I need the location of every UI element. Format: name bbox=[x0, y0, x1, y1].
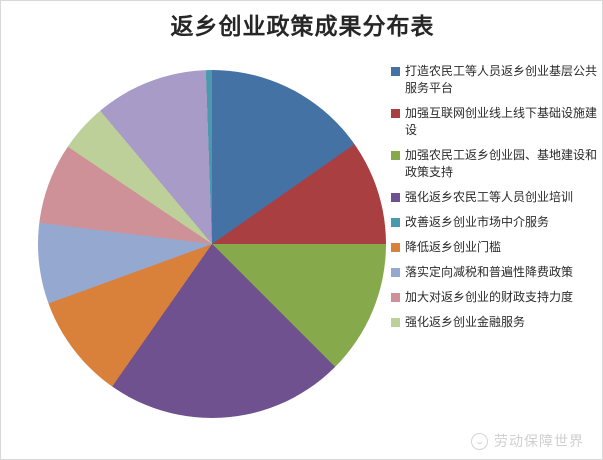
legend-color-swatch bbox=[391, 243, 400, 252]
legend-color-swatch bbox=[391, 193, 400, 202]
legend-item-label: 降低返乡创业门槛 bbox=[405, 239, 501, 256]
legend-item[interactable]: 改善返乡创业市场中介服务 bbox=[391, 214, 598, 231]
legend-item[interactable]: 强化返乡创业金融服务 bbox=[391, 314, 598, 331]
legend-color-swatch bbox=[391, 318, 400, 327]
legend-item-label: 加强农民工返乡创业园、基地建设和政策支持 bbox=[405, 147, 598, 181]
smiley-circle-icon bbox=[471, 433, 488, 450]
page-title: 返乡创业政策成果分布表 bbox=[1, 9, 603, 43]
legend-item-label: 强化返乡农民工等人员创业培训 bbox=[405, 189, 573, 206]
legend-item[interactable]: 加强互联网创业线上线下基础设施建设 bbox=[391, 105, 598, 139]
legend-color-swatch bbox=[391, 218, 400, 227]
legend-color-swatch bbox=[391, 293, 400, 302]
legend-color-swatch bbox=[391, 109, 400, 118]
legend-item-label: 落实定向减税和普遍性降费政策 bbox=[405, 264, 573, 281]
legend-item[interactable]: 打造农民工等人员返乡创业基层公共服务平台 bbox=[391, 63, 598, 97]
pie-chart-plot-area bbox=[23, 58, 393, 428]
legend-item[interactable]: 降低返乡创业门槛 bbox=[391, 239, 598, 256]
legend-item[interactable]: 强化返乡农民工等人员创业培训 bbox=[391, 189, 598, 206]
legend-item[interactable]: 加大对返乡创业的财政支持力度 bbox=[391, 289, 598, 306]
pie-chart-graphic bbox=[38, 70, 386, 418]
legend-item[interactable]: 加强农民工返乡创业园、基地建设和政策支持 bbox=[391, 147, 598, 181]
legend-item[interactable]: 落实定向减税和普遍性降费政策 bbox=[391, 264, 598, 281]
legend-color-swatch bbox=[391, 268, 400, 277]
legend-item-label: 加大对返乡创业的财政支持力度 bbox=[405, 289, 573, 306]
pie-chart-card: 返乡创业政策成果分布表 打造农民工等人员返乡创业基层公共服务平台加强互联网创业线… bbox=[0, 0, 603, 460]
watermark: 劳动保障世界 bbox=[471, 431, 584, 451]
legend-item-label: 改善返乡创业市场中介服务 bbox=[405, 214, 549, 231]
legend-item-label: 加强互联网创业线上线下基础设施建设 bbox=[405, 105, 598, 139]
legend-color-swatch bbox=[391, 67, 400, 76]
chart-legend: 打造农民工等人员返乡创业基层公共服务平台加强互联网创业线上线下基础设施建设加强农… bbox=[391, 63, 598, 339]
legend-color-swatch bbox=[391, 151, 400, 160]
watermark-text: 劳动保障世界 bbox=[494, 431, 584, 451]
legend-item-label: 强化返乡创业金融服务 bbox=[405, 314, 525, 331]
legend-item-label: 打造农民工等人员返乡创业基层公共服务平台 bbox=[405, 63, 598, 97]
